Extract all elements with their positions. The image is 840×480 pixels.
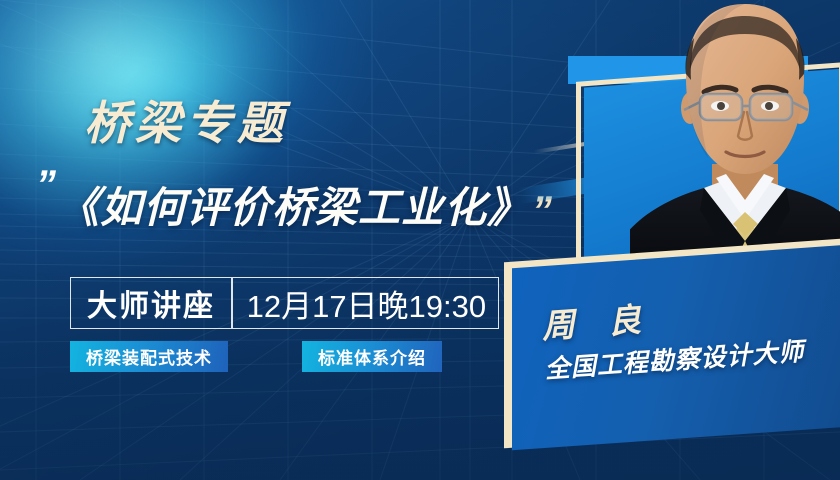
lecture-type-label: 大师讲座	[71, 278, 231, 328]
page-title: 桥梁专题	[84, 100, 288, 146]
quote-open-icon: ”	[36, 170, 53, 200]
lecture-info-box: 大师讲座 12月17日晚19:30	[70, 277, 499, 329]
poster-canvas: 桥梁专题 ” 《如何评价桥梁工业化》 ” 大师讲座 12月17日晚19:30 桥…	[0, 0, 840, 480]
subtitle: 《如何评价桥梁工业化》	[57, 186, 530, 230]
speaker-portrait-group	[480, 0, 840, 480]
topic-tag-list: 桥梁装配式技术 标准体系介绍	[70, 341, 442, 372]
lecture-datetime: 12月17日晚19:30	[233, 278, 499, 328]
topic-tag-1: 桥梁装配式技术	[70, 341, 228, 372]
topic-tag-2: 标准体系介绍	[302, 341, 442, 372]
subtitle-row: ” 《如何评价桥梁工业化》 ”	[36, 170, 549, 230]
